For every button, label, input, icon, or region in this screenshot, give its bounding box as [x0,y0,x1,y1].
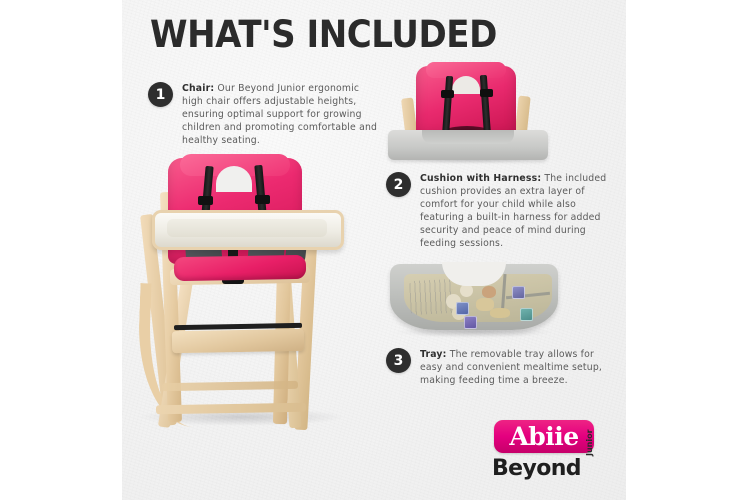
feature-title: Cushion with Harness: [420,173,541,184]
feature-body: The included cushion provides an extra l… [420,173,606,249]
tray-food-item [482,286,496,298]
abiie-wordmark: Abiie [509,424,578,449]
feature-item-tray: 3 Tray: The removable tray allows for ea… [386,348,612,387]
tray-reflection-icon [512,286,525,299]
feature-number-badge: 2 [386,172,411,197]
infographic-screen: WHAT'S INCLUDED [0,0,750,500]
page-title: WHAT'S INCLUDED [150,13,497,56]
feature-number-badge: 3 [386,348,411,373]
feature-number-badge: 1 [148,82,173,107]
tray-reflection-icon [464,316,477,329]
tray-reflection-icon [456,302,469,315]
feature-item-chair: 1 Chair: Our Beyond Junior ergonomic hig… [148,82,380,147]
cushion-harness-right-buckle [480,89,493,97]
feature-text: Tray: The removable tray allows for easy… [420,348,612,387]
chair-tray-inner [167,219,327,237]
tray-food-item [490,308,510,318]
cushion-with-harness-photo [388,60,548,164]
brand-logo: Abiie Beyond Junior [486,420,604,484]
removable-tray-photo [386,262,562,338]
junior-wordmark: Junior [585,429,594,456]
feature-body: The removable tray allows for easy and c… [420,349,602,386]
chair-footrest-board [172,329,304,353]
feature-text: Chair: Our Beyond Junior ergonomic high … [182,82,380,147]
feature-title: Tray: [420,349,447,360]
chair-tray [152,210,344,250]
tray-reflection-icon [520,308,533,321]
chair-seat-cushion [174,255,306,281]
cushion-photo-tray-opening [422,130,514,144]
feature-item-cushion: 2 Cushion with Harness: The included cus… [386,172,612,251]
abiie-logo-badge: Abiie [494,420,594,453]
chair-harness-right-buckle [255,195,270,204]
high-chair-photo [124,152,360,434]
beyond-wordmark: Beyond [492,456,581,481]
chair-harness-left-buckle [198,196,213,205]
cushion-harness-left-buckle [441,90,454,98]
feature-title: Chair: [182,83,214,94]
feature-text: Cushion with Harness: The included cushi… [420,172,612,251]
